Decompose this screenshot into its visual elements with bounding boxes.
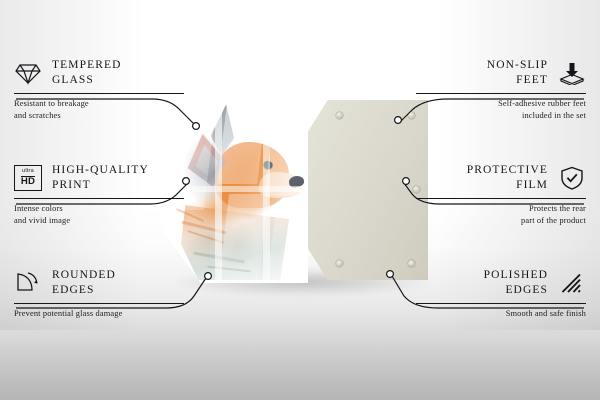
fox-print-artwork (163, 98, 308, 283)
rubber-foot (408, 112, 415, 119)
feature-divider (416, 93, 586, 94)
feature-description: Intense colors and vivid image (14, 203, 184, 227)
feature-title: TEMPERED GLASS (52, 58, 122, 87)
feature-description: Smooth and safe finish (416, 308, 586, 320)
feature-divider (14, 93, 184, 94)
feature-description: Protects the rear part of the product (416, 203, 586, 227)
feature-tempered-glass[interactable]: TEMPERED GLASS Resistant to breakage and… (14, 56, 184, 122)
non-slip-feet-icon (558, 59, 586, 87)
feature-divider (416, 303, 586, 304)
rounded-corner-icon (14, 269, 42, 297)
feature-high-quality-print[interactable]: ultra HD HIGH-QUALITY PRINT Intense colo… (14, 161, 184, 227)
ultra-hd-top-text: ultra (22, 169, 34, 175)
diamond-icon (14, 59, 42, 87)
rubber-foot (408, 260, 415, 267)
product-infographic: TEMPERED GLASS Resistant to breakage and… (0, 0, 600, 400)
glass-front-panel (163, 98, 308, 283)
feature-title-line1: POLISHED (484, 269, 548, 281)
feature-title-line2: EDGES (505, 284, 548, 296)
feature-divider (14, 303, 184, 304)
feature-description: Self-adhesive rubber feet included in th… (416, 98, 586, 122)
feature-title-line1: NON-SLIP (487, 59, 548, 71)
feature-title-line2: GLASS (52, 74, 94, 86)
ultra-hd-badge: ultra HD (14, 165, 42, 191)
feature-title-line1: TEMPERED (52, 59, 122, 71)
feature-title-line1: HIGH-QUALITY (52, 164, 149, 176)
feature-desc-line2: and scratches (14, 111, 61, 120)
rubber-foot (336, 260, 343, 267)
feature-title-line1: ROUNDED (52, 269, 116, 281)
feature-desc-line2: and vivid image (14, 216, 70, 225)
feature-title-line1: PROTECTIVE (467, 164, 548, 176)
feature-title-line2: FEET (516, 74, 548, 86)
feature-title-line2: FILM (516, 179, 548, 191)
feature-header: NON-SLIP FEET (416, 56, 586, 90)
feature-description: Resistant to breakage and scratches (14, 98, 184, 122)
feature-polished-edges[interactable]: POLISHED EDGES Smooth and safe finish (416, 266, 586, 320)
feature-header: PROTECTIVE FILM (416, 161, 586, 195)
feature-desc-line2: included in the set (522, 111, 586, 120)
feature-title: HIGH-QUALITY PRINT (52, 163, 149, 192)
ultra-hd-icon: ultra HD (14, 164, 42, 192)
feature-divider (416, 198, 586, 199)
feature-title: PROTECTIVE FILM (467, 163, 548, 192)
feature-title: NON-SLIP FEET (487, 58, 548, 87)
glass-back-panel (296, 100, 428, 280)
feature-title: ROUNDED EDGES (52, 268, 116, 297)
shield-check-icon (558, 164, 586, 192)
feature-desc-line1: Protects the rear (529, 204, 586, 213)
feature-divider (14, 198, 184, 199)
feature-desc-line1: Smooth and safe finish (506, 309, 586, 318)
feature-rounded-edges[interactable]: ROUNDED EDGES Prevent potential glass da… (14, 266, 184, 320)
feature-desc-line2: part of the product (521, 216, 586, 225)
feature-title-line2: PRINT (52, 179, 91, 191)
feature-header: POLISHED EDGES (416, 266, 586, 300)
feature-desc-line1: Intense colors (14, 204, 63, 213)
feature-desc-line1: Resistant to breakage (14, 99, 89, 108)
feature-title-line2: EDGES (52, 284, 95, 296)
feature-desc-line1: Self-adhesive rubber feet (498, 99, 586, 108)
feature-header: TEMPERED GLASS (14, 56, 184, 90)
feature-non-slip-feet[interactable]: NON-SLIP FEET Self-adhesive rubber feet … (416, 56, 586, 122)
polished-edge-icon (558, 269, 586, 297)
feature-title: POLISHED EDGES (484, 268, 548, 297)
feature-desc-line1: Prevent potential glass damage (14, 309, 122, 318)
rubber-foot (336, 112, 343, 119)
ultra-hd-bottom-text: HD (21, 176, 35, 187)
feature-header: ROUNDED EDGES (14, 266, 184, 300)
feature-header: ultra HD HIGH-QUALITY PRINT (14, 161, 184, 195)
feature-protective-film[interactable]: PROTECTIVE FILM Protects the rear part o… (416, 161, 586, 227)
feature-description: Prevent potential glass damage (14, 308, 184, 320)
